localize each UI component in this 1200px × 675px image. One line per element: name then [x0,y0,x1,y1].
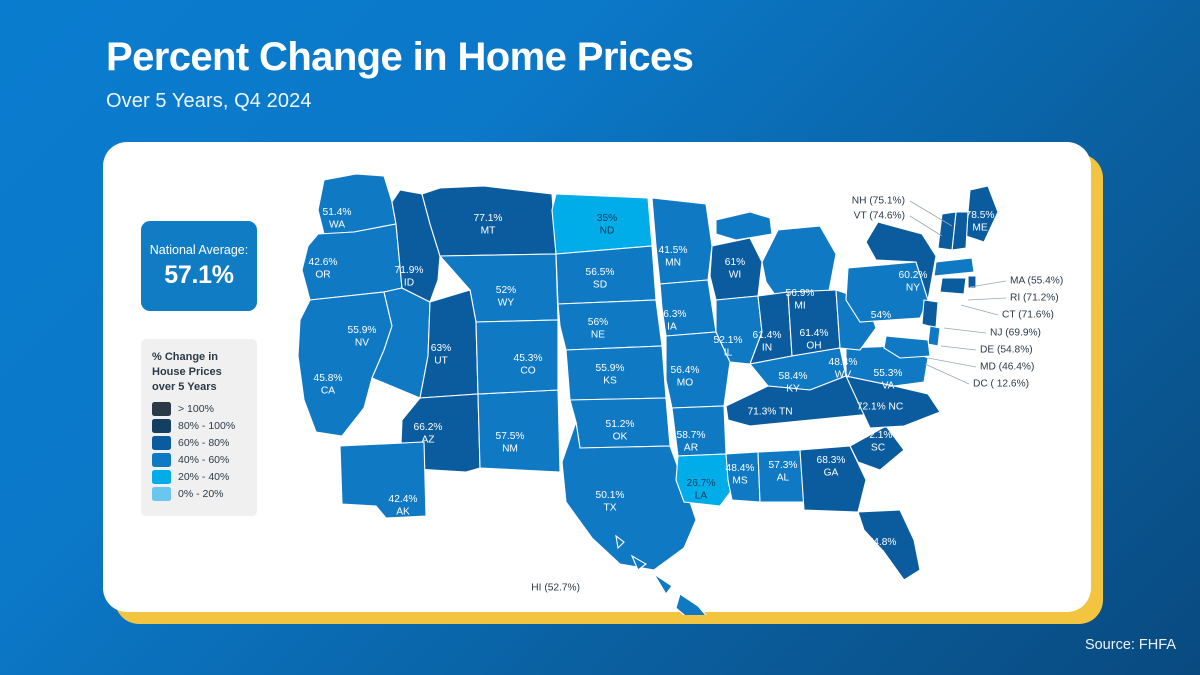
state-ct[interactable] [940,278,966,294]
legend-item: 80% - 100% [152,419,247,433]
callout-label-de: DE (54.8%) [980,345,1033,356]
page-title: Percent Change in Home Prices [106,36,1006,78]
state-mo[interactable] [666,332,730,408]
leader-line-de [941,346,976,350]
state-nm[interactable] [478,390,560,472]
state-sd[interactable] [556,246,656,304]
state-la[interactable] [676,454,732,506]
state-pa[interactable] [846,262,928,322]
state-or[interactable] [302,224,402,300]
legend-item: 40% - 60% [152,453,247,467]
leader-line-md [928,358,976,367]
legend-label: 20% - 40% [178,471,229,483]
legend-swatch [152,453,171,467]
state-fl[interactable] [858,510,920,580]
infographic-root: Percent Change in Home Prices Over 5 Yea… [0,0,1200,675]
callout-label-nj: NJ (69.9%) [990,328,1041,339]
state-ma[interactable] [934,258,974,276]
state-hi-island [676,594,710,615]
callout-label-ct: CT (71.6%) [1002,310,1054,321]
leader-line-ct [961,305,998,315]
state-ms[interactable] [726,452,760,502]
national-average-value: 57.1% [164,261,233,290]
state-ok[interactable] [570,398,670,448]
national-average-box: National Average: 57.1% [141,221,257,311]
legend-label: 60% - 80% [178,437,229,449]
callout-label-ma: MA (55.4%) [1010,276,1063,287]
legend-title: % Change in House Prices over 5 Years [152,350,247,395]
state-shapes [298,174,998,615]
legend-label: > 100% [178,403,214,415]
leader-line-dc [925,364,969,384]
state-de[interactable] [928,326,940,346]
callout-label-nh: NH (75.1%) [852,196,905,207]
state-ak[interactable] [340,442,426,518]
state-ar[interactable] [672,406,726,456]
legend-swatch [152,487,171,501]
legend-label: 40% - 60% [178,454,229,466]
state-ia[interactable] [660,280,716,336]
state-ks[interactable] [566,346,666,400]
state-wi[interactable] [710,238,762,300]
state-oh[interactable] [788,290,840,356]
legend-item: > 100% [152,402,247,416]
state-nj[interactable] [922,300,938,328]
leader-line-ri [968,298,1006,300]
state-wa[interactable] [318,174,396,234]
legend-item: 60% - 80% [152,436,247,450]
state-hi-island [654,574,672,594]
state-ne[interactable] [558,300,662,350]
state-mn[interactable] [652,198,712,284]
header: Percent Change in Home Prices Over 5 Yea… [106,36,1006,113]
legend-swatch [152,402,171,416]
state-me[interactable] [966,186,998,242]
map-svg: 51.4%WA77.1%MT35%ND41.5%MN61%WI42.6%OR71… [280,150,1090,615]
legend-swatch [152,436,171,450]
callout-label-dc: DC ( 12.6%) [973,379,1029,390]
legend-swatch [152,419,171,433]
legend-item: 20% - 40% [152,470,247,484]
state-co[interactable] [476,320,558,394]
legend-label: 0% - 20% [178,488,224,500]
state-mt[interactable] [422,186,556,256]
callout-label-hi: HI (52.7%) [531,583,580,594]
callout-label-md: MD (46.4%) [980,362,1034,373]
callout-label-ri: RI (71.2%) [1010,293,1059,304]
page-subtitle: Over 5 Years, Q4 2024 [106,90,1006,113]
map-legend: % Change in House Prices over 5 Years > … [141,339,257,516]
us-choropleth-map: 51.4%WA77.1%MT35%ND41.5%MN61%WI42.6%OR71… [280,150,1090,615]
state-mi-island [716,212,772,240]
national-average-label: National Average: [150,243,248,258]
legend-label: 80% - 100% [178,420,235,432]
source-attribution: Source: FHFA [1085,637,1176,653]
callout-label-vt: VT (74.6%) [854,211,905,222]
legend-item: 0% - 20% [152,487,247,501]
leader-line-nj [944,328,986,333]
state-nd[interactable] [552,194,652,254]
state-al[interactable] [758,450,804,502]
legend-swatch [152,470,171,484]
legend-rows: > 100%80% - 100%60% - 80%40% - 60%20% - … [152,402,247,501]
